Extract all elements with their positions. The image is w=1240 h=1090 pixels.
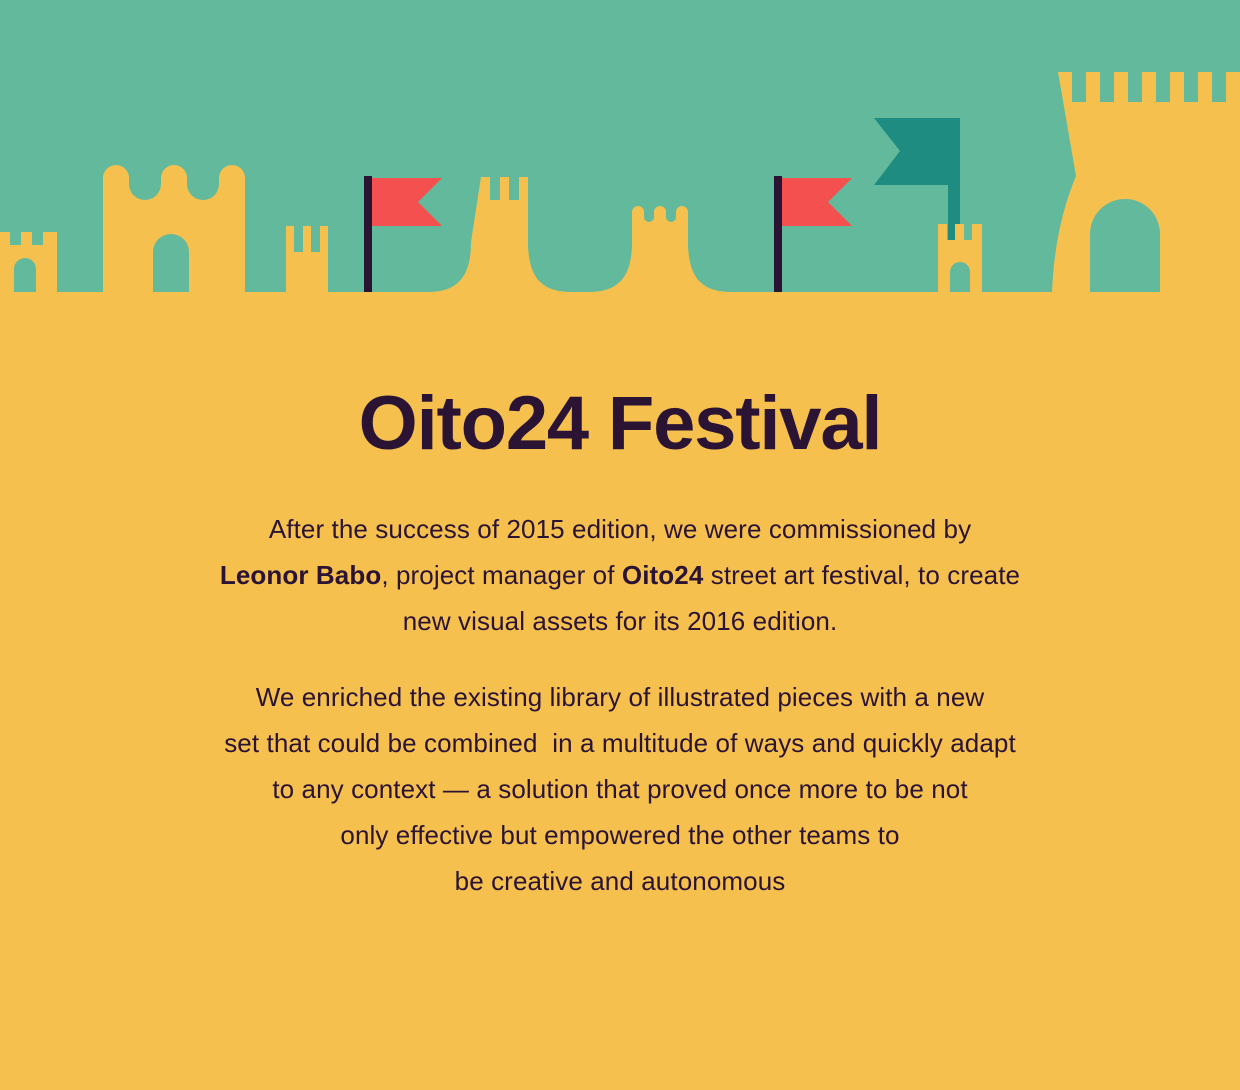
- plain-text: to any context — a solution that proved …: [272, 774, 967, 804]
- body-copy: After the success of 2015 edition, we we…: [0, 506, 1240, 904]
- emphasis-text: Leonor Babo: [220, 560, 381, 590]
- paragraph-line: to any context — a solution that proved …: [160, 766, 1080, 812]
- plain-text: set that could be combined in a multitud…: [224, 728, 1016, 758]
- plain-text: new visual assets for its 2016 edition.: [403, 606, 838, 636]
- rounded-crenellation-castle: [103, 165, 245, 292]
- plain-text: , project manager of: [381, 560, 622, 590]
- content-area: Oito24 Festival After the success of 201…: [0, 300, 1240, 904]
- intro-paragraph: After the success of 2015 edition, we we…: [180, 506, 1060, 644]
- paragraph-line: We enriched the existing library of illu…: [160, 674, 1080, 720]
- flagpole-left: [364, 176, 372, 292]
- emphasis-text: Oito24: [622, 560, 704, 590]
- paragraph-line: Leonor Babo, project manager of Oito24 s…: [180, 552, 1060, 598]
- paragraph-line: After the success of 2015 edition, we we…: [180, 506, 1060, 552]
- plain-text: We enriched the existing library of illu…: [256, 682, 985, 712]
- ground-strip: [0, 292, 1240, 300]
- plain-text: be creative and autonomous: [455, 866, 786, 896]
- sandcastle-skyline-illustration: [0, 0, 1240, 300]
- skyline-svg: [0, 0, 1240, 300]
- short-crenellated-wall-tower: [286, 226, 328, 292]
- paragraph-line: set that could be combined in a multitud…: [160, 720, 1080, 766]
- small-left-tower: [0, 232, 57, 292]
- page-root: Oito24 Festival After the success of 201…: [0, 0, 1240, 1090]
- page-title: Oito24 Festival: [0, 300, 1240, 462]
- small-right-tower: [938, 224, 982, 292]
- plain-text: street art festival, to create: [703, 560, 1020, 590]
- paragraph-line: only effective but empowered the other t…: [160, 812, 1080, 858]
- outcome-paragraph: We enriched the existing library of illu…: [160, 674, 1080, 904]
- flagpole-right: [774, 176, 782, 292]
- paragraph-line: be creative and autonomous: [160, 858, 1080, 904]
- tall-flared-keep: [1052, 72, 1240, 292]
- plain-text: After the success of 2015 edition, we we…: [269, 514, 971, 544]
- plain-text: only effective but empowered the other t…: [340, 820, 899, 850]
- paragraph-line: new visual assets for its 2016 edition.: [180, 598, 1060, 644]
